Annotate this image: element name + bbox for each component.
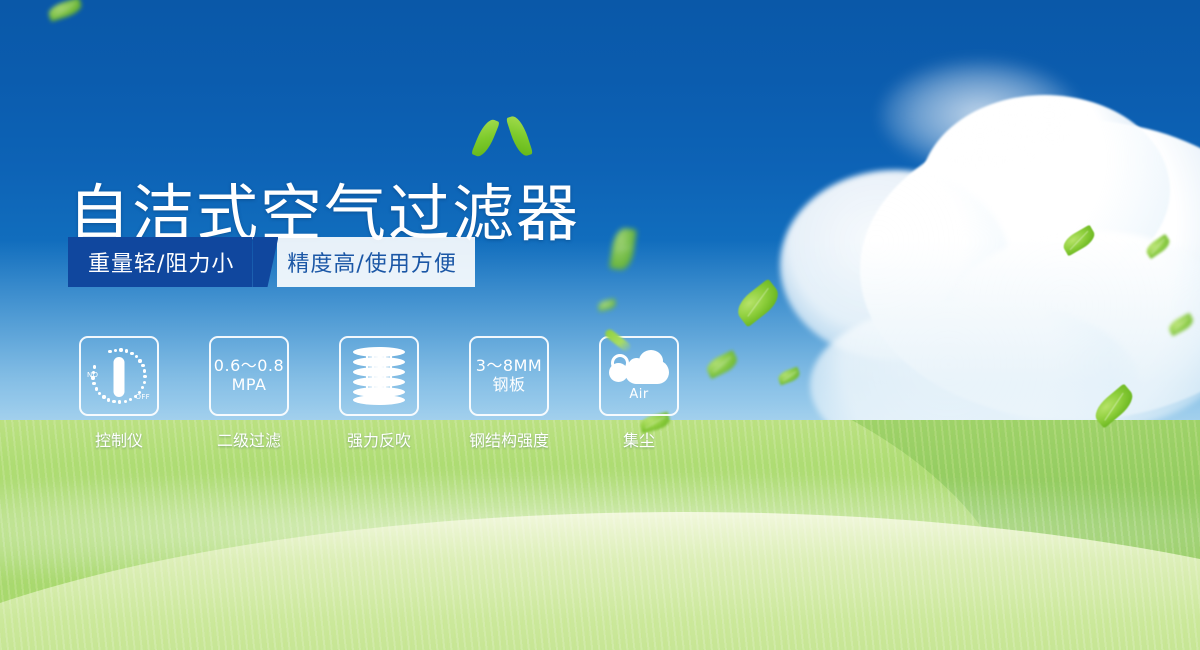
feature-label: 控制仪 xyxy=(95,427,143,451)
sprout-leaf-right xyxy=(506,114,533,159)
gauge-tick xyxy=(130,352,133,355)
page-title: 自洁式空气过滤器 xyxy=(68,183,580,245)
grass-texture xyxy=(0,420,1200,650)
gauge-off-label: OFF xyxy=(136,393,150,401)
gauge-tick xyxy=(107,398,110,401)
sprout-leaf-left xyxy=(471,117,500,160)
gauge-tick xyxy=(134,395,137,398)
leaf-top-left xyxy=(47,0,84,22)
gauge-tick xyxy=(138,391,141,394)
product-banner: 自洁式空气过滤器 重量轻/阻力小 精度高/使用方便 NO OFF 控制仪 0.6… xyxy=(0,0,1200,650)
feature-item-controller[interactable]: NO OFF 控制仪 xyxy=(68,336,170,451)
subtitle-left-text: 重量轻/阻力小 xyxy=(68,237,252,287)
filter-ring xyxy=(353,347,405,357)
steel-text-icon: 3〜8MM 钢板 xyxy=(476,357,542,395)
subtitle-badge: 重量轻/阻力小 精度高/使用方便 xyxy=(68,237,475,287)
steel-line-1: 3〜8MM xyxy=(476,356,542,375)
feature-icon-box: Air xyxy=(599,336,679,416)
gauge-tick xyxy=(91,376,94,379)
feature-item-steel-strength[interactable]: 3〜8MM 钢板 钢结构强度 xyxy=(458,336,560,451)
feature-label: 集尘 xyxy=(623,427,655,451)
gauge-tick xyxy=(95,387,98,390)
leaf-lower-tiny xyxy=(777,367,802,386)
feature-label: 强力反吹 xyxy=(347,427,411,451)
feature-icon-box: 3〜8MM 钢板 xyxy=(469,336,549,416)
gauge-tick xyxy=(108,350,111,353)
grass-field xyxy=(0,420,1200,650)
steel-line-2: 钢板 xyxy=(476,376,542,395)
air-label: Air xyxy=(629,387,648,402)
subtitle-right-text: 精度高/使用方便 xyxy=(277,237,474,287)
feature-icon-box xyxy=(339,336,419,416)
leaf-center-large xyxy=(732,279,784,328)
gauge-tick xyxy=(138,359,141,362)
feature-label: 钢结构强度 xyxy=(469,427,549,451)
filter-ring xyxy=(353,377,405,387)
feature-item-dust-collection[interactable]: Air 集尘 xyxy=(588,336,690,451)
gauge-tick xyxy=(98,392,101,395)
leaf-center-small xyxy=(704,350,740,379)
gauge-tick xyxy=(129,398,132,401)
filter-stack-icon xyxy=(353,347,405,405)
pressure-line-2: MPA xyxy=(214,376,284,395)
feature-icon-box: 0.6〜0.8 MPA xyxy=(209,336,289,416)
pressure-line-1: 0.6〜0.8 xyxy=(214,356,284,375)
green-streak xyxy=(603,328,632,354)
gauge-tick xyxy=(135,355,138,358)
feature-item-blowback[interactable]: 强力反吹 xyxy=(328,336,430,451)
filter-ring xyxy=(353,367,405,377)
gauge-icon: NO OFF xyxy=(88,345,150,407)
gauge-tick xyxy=(125,349,128,352)
gauge-needle xyxy=(114,357,125,397)
feature-icon-box: NO OFF xyxy=(79,336,159,416)
leaf-mid-upper xyxy=(609,227,637,272)
gauge-tick xyxy=(114,349,117,352)
gauge-tick xyxy=(112,400,115,403)
gauge-tick xyxy=(93,365,96,368)
gauge-tick xyxy=(143,381,146,384)
gauge-tick xyxy=(102,395,105,398)
gauge-tick xyxy=(124,400,127,403)
feature-list: NO OFF 控制仪 0.6〜0.8 MPA 二级过滤 xyxy=(68,336,690,451)
feature-label: 二级过滤 xyxy=(217,427,281,451)
leaf-near-title xyxy=(597,298,617,312)
gauge-tick xyxy=(141,386,144,389)
gauge-tick xyxy=(141,364,144,367)
pressure-text-icon: 0.6〜0.8 MPA xyxy=(214,357,284,395)
gauge-tick xyxy=(118,400,121,403)
gauge-tick xyxy=(119,348,122,351)
cloud-body xyxy=(625,360,669,384)
filter-ring xyxy=(353,395,405,405)
air-cloud-icon xyxy=(609,350,669,384)
gauge-tick xyxy=(143,375,146,378)
feature-item-secondary-filter[interactable]: 0.6〜0.8 MPA 二级过滤 xyxy=(198,336,300,451)
filter-ring xyxy=(353,357,405,367)
subtitle-separator xyxy=(252,237,278,287)
cloud-right-wisp xyxy=(880,60,1080,170)
gauge-tick xyxy=(92,382,95,385)
gauge-tick xyxy=(143,369,146,372)
